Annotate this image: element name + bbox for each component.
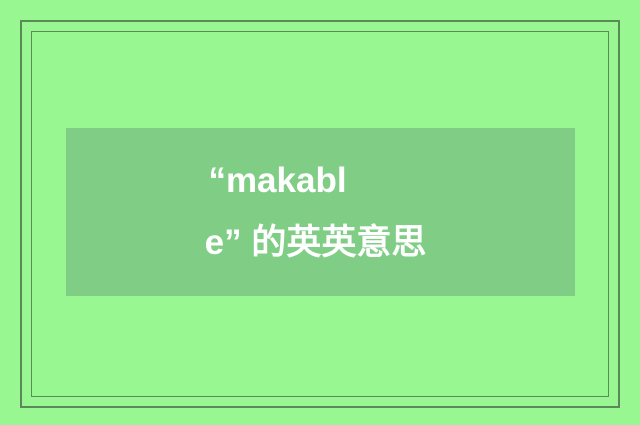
- page-canvas: “makabl e” 的英英意思: [0, 0, 640, 425]
- headline-line-1: “makabl: [208, 150, 346, 212]
- headline-panel: “makabl e” 的英英意思: [66, 128, 575, 296]
- headline-line-2: e” 的英英意思: [205, 212, 427, 274]
